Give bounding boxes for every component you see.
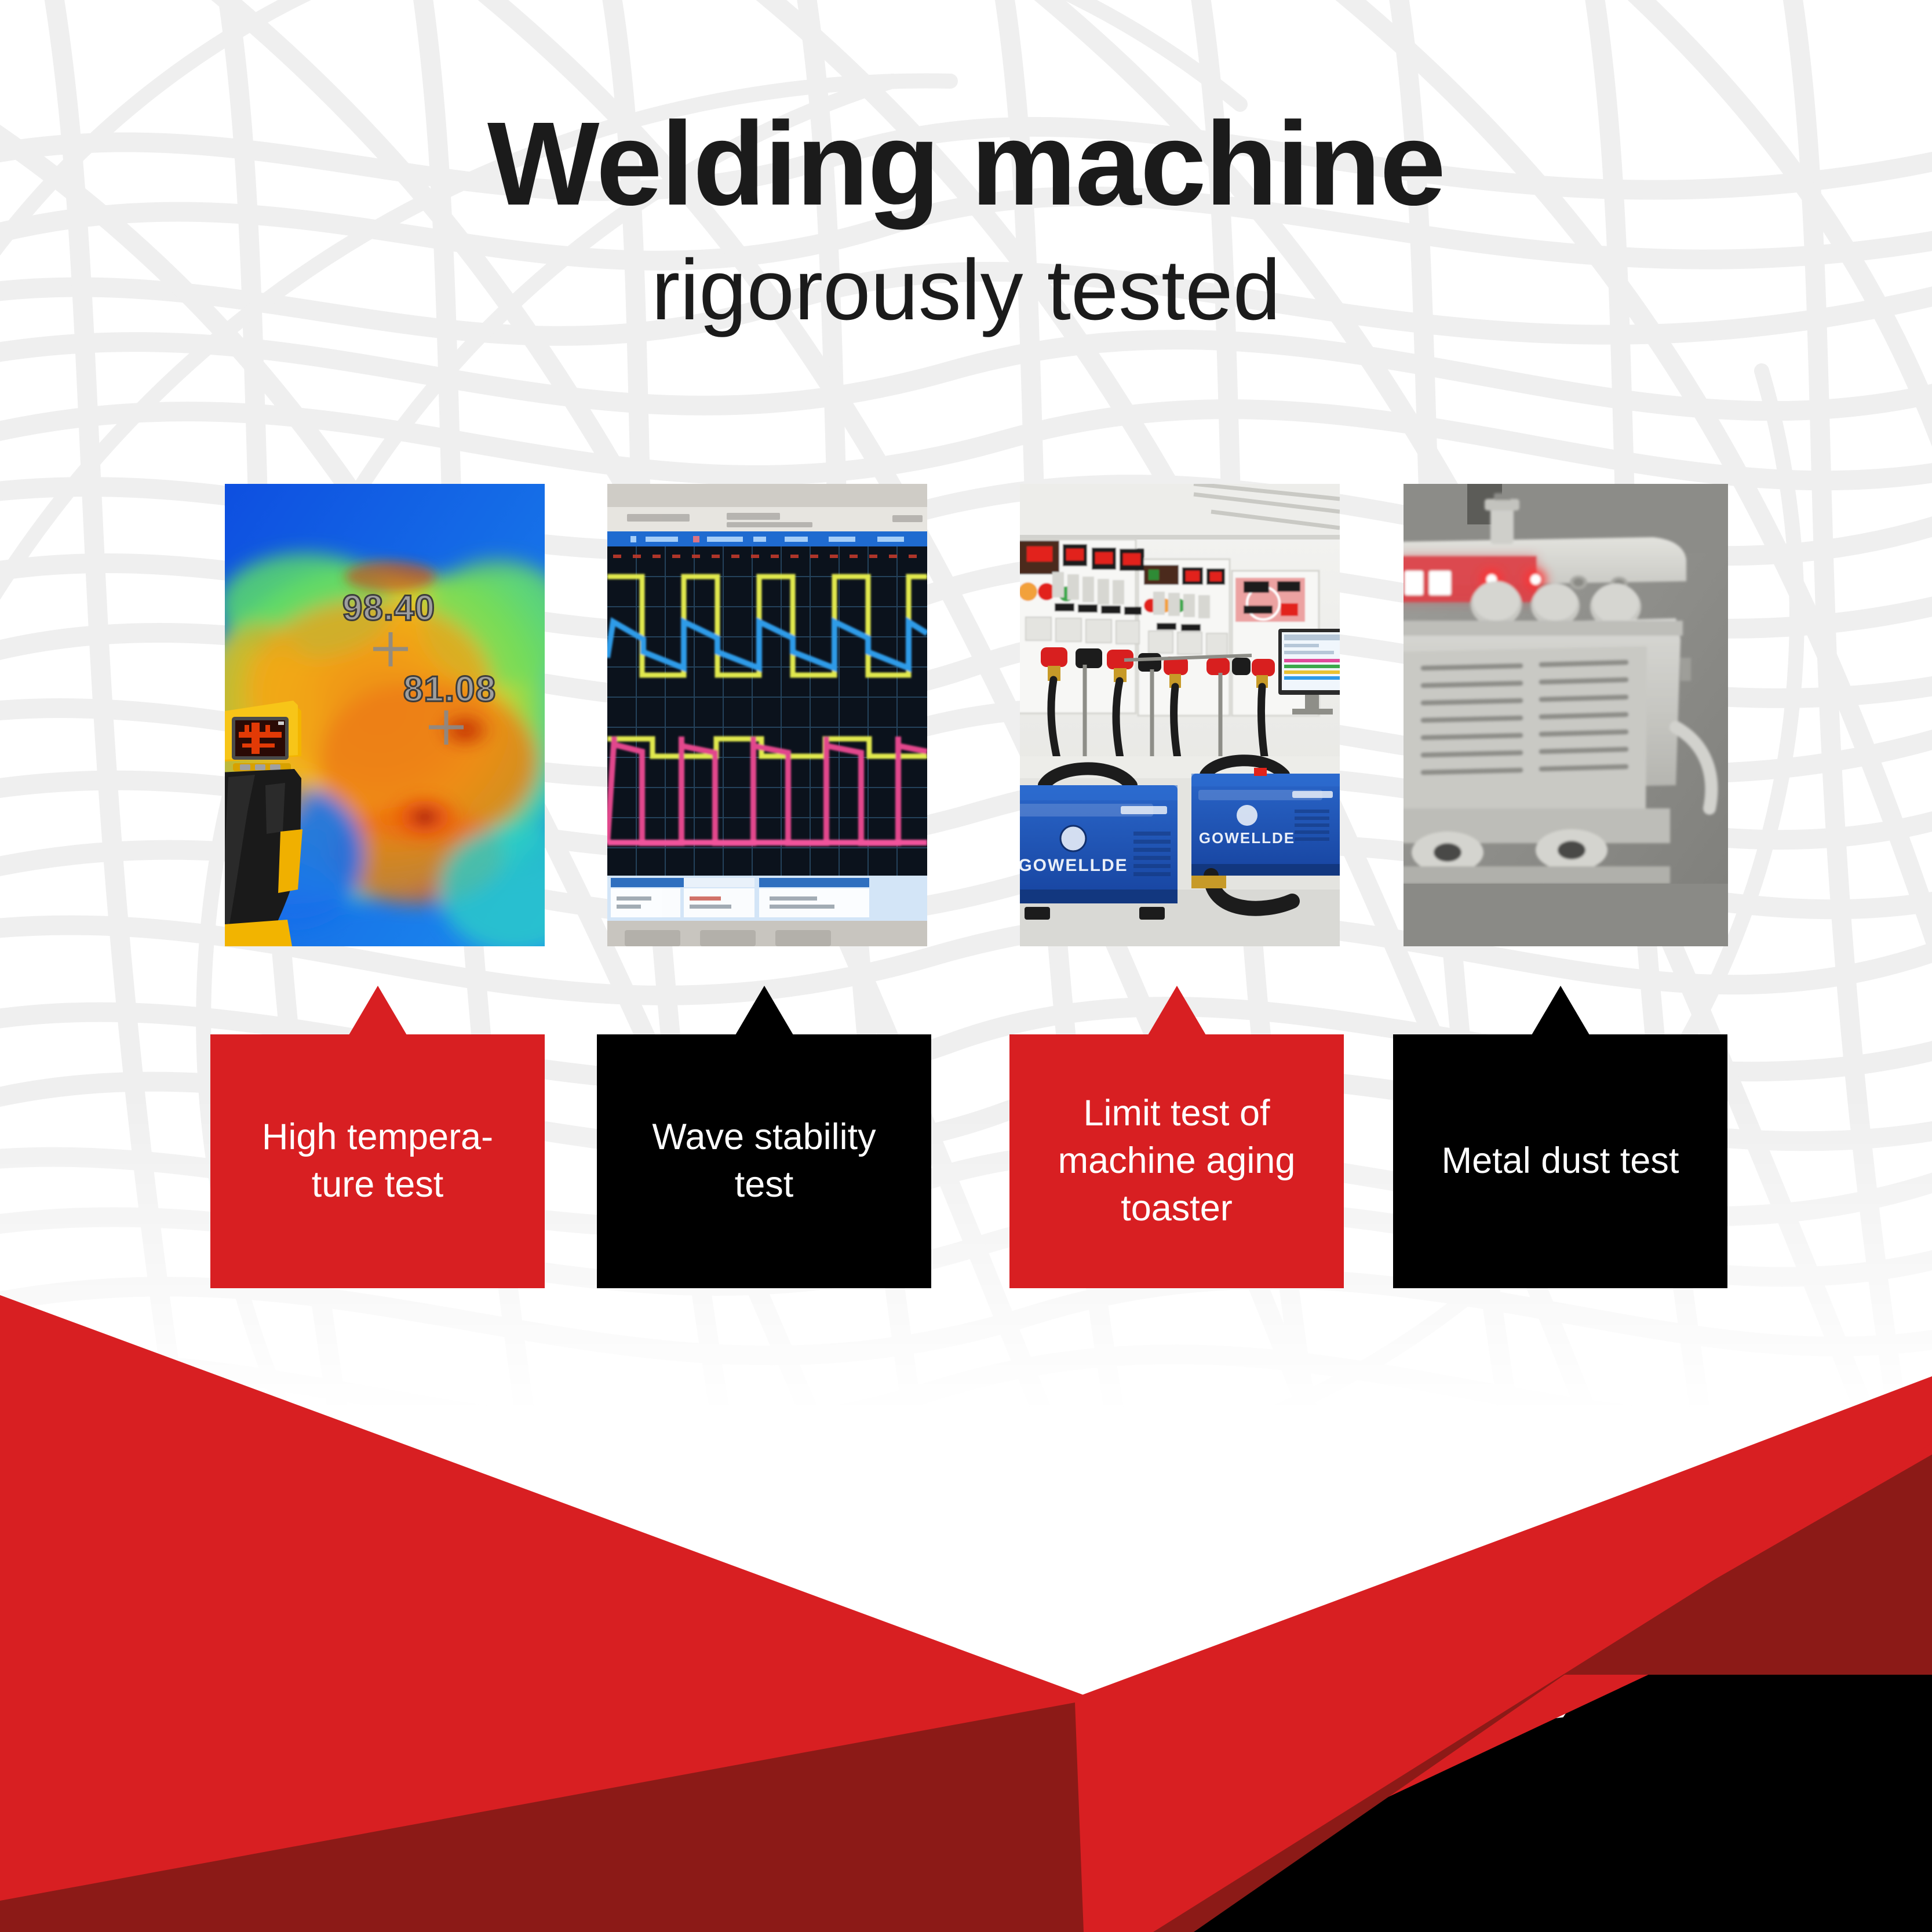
- photo-dust-covered-machine: [1404, 484, 1728, 946]
- card-label: Metal dust test: [1427, 1138, 1694, 1185]
- photo-oscilloscope-screen: [607, 484, 927, 946]
- card-limit-test-of-machine-aging-toaster[interactable]: Limit test ofmachine agingtoaster: [1009, 1034, 1344, 1288]
- bottom-geometric-banner: [0, 1269, 1932, 1932]
- card-wave-stability-test[interactable]: Wave stabilitytest: [597, 1034, 931, 1288]
- svg-text:GOWELLDE: GOWELLDE: [1199, 829, 1295, 847]
- page-title: Welding machine: [0, 104, 1932, 223]
- card-metal-dust-test[interactable]: Metal dust test: [1393, 1034, 1727, 1288]
- test-column-limit-test-of-machine-aging-toaster: GOWELLDE: [1009, 484, 1344, 1289]
- page-subtitle: rigorously tested: [0, 247, 1932, 333]
- card-pointer-icon: [735, 986, 793, 1035]
- card-label: High tempera-ture test: [247, 1114, 508, 1209]
- card-pointer-icon: [1532, 986, 1590, 1035]
- card-pointer-icon: [1148, 986, 1206, 1035]
- poster-canvas: Welding machine rigorously tested: [0, 0, 1932, 1932]
- card-pointer-icon: [349, 986, 407, 1035]
- svg-text:81.08: 81.08: [403, 669, 496, 709]
- photo-aging-test-lab: GOWELLDE: [1020, 484, 1340, 946]
- card-label: Wave stabilitytest: [637, 1114, 891, 1209]
- poster-heading-block: Welding machine rigorously tested: [0, 104, 1932, 333]
- test-column-wave-stability-test: Wave stabilitytest: [597, 484, 931, 1289]
- photo-thermal-image: 98.40 81.08: [225, 484, 545, 946]
- svg-text:GOWELLDE: GOWELLDE: [1020, 856, 1128, 875]
- test-column-metal-dust-test: Metal dust test: [1393, 484, 1727, 1289]
- test-column-high-temperature-test: 98.40 81.08: [210, 484, 545, 1289]
- svg-text:98.40: 98.40: [342, 588, 435, 628]
- card-high-temperature-test[interactable]: High tempera-ture test: [210, 1034, 545, 1288]
- card-label: Limit test ofmachine agingtoaster: [1043, 1090, 1311, 1233]
